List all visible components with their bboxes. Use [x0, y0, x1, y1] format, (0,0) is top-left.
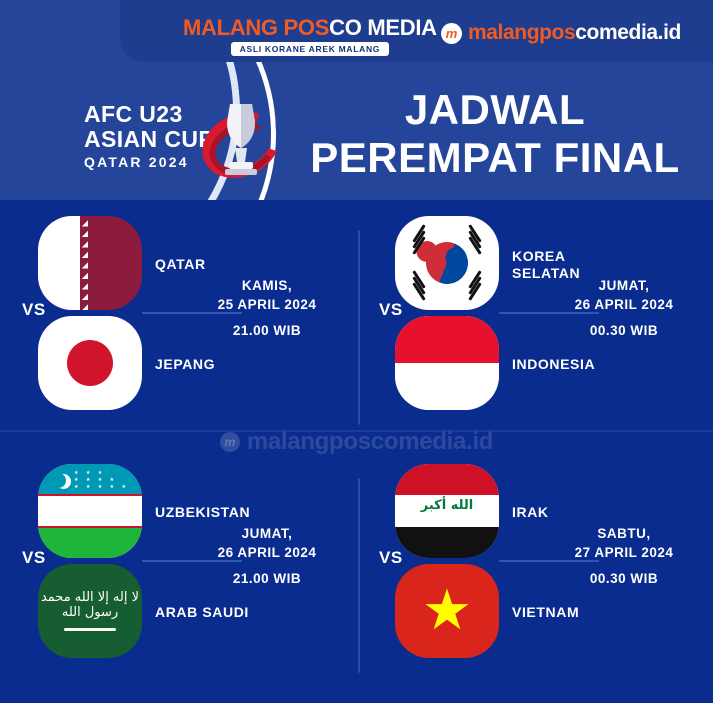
afc-logo-line3: QATAR 2024	[84, 152, 214, 172]
site-url-link[interactable]: m malangposcomedia.id	[441, 21, 681, 45]
iraq-takbir-text: الله أكبر	[395, 498, 499, 513]
iraq-black-band	[395, 527, 499, 558]
logo-wordmark: MALANG POSCO MEDIA	[183, 17, 437, 39]
team-name-bottom: ARAB SAUDI	[155, 604, 249, 621]
afc-logo-line2: ASIAN CUP	[84, 127, 214, 152]
match-time: 21.00 WIB	[192, 569, 342, 588]
saudi-shahada-text: لا إله إلا الله محمد رسول الله	[38, 590, 142, 620]
site-logo-icon: m	[441, 23, 462, 44]
flag-saudi-arabia-icon: لا إله إلا الله محمد رسول الله	[38, 564, 142, 658]
afc-logo-line1: AFC U23	[84, 102, 214, 127]
team-name-top: QATAR	[155, 256, 206, 273]
flag-qatar-icon	[38, 216, 142, 310]
uzbek-stars-icon: ★ ★ ★★ ★ ★ ★★ ★ ★ ★ ★	[74, 470, 130, 494]
horizontal-divider	[0, 430, 713, 432]
match-date: 25 APRIL 2024	[218, 297, 317, 312]
page-title-line2: PEREMPAT FINAL	[310, 134, 680, 182]
flag-indonesia-icon	[395, 316, 499, 410]
match-day: SABTU,	[597, 526, 650, 541]
japan-sun-disc	[67, 340, 113, 386]
team-name-top: UZBEKISTAN	[155, 504, 250, 521]
indonesia-white-band	[395, 363, 499, 410]
team-name-bottom: VIETNAM	[512, 604, 579, 621]
team-name-bottom: INDONESIA	[512, 356, 595, 373]
flag-iraq-icon: الله أكبر	[395, 464, 499, 558]
match-day: JUMAT,	[599, 278, 650, 293]
match-time: 21.00 WIB	[192, 321, 342, 340]
indonesia-red-band	[395, 316, 499, 363]
trophy-icon	[199, 92, 283, 184]
flag-south-korea-icon	[395, 216, 499, 310]
team-name-bottom: JEPANG	[155, 356, 215, 373]
poster-header: MALANG POSCO MEDIA ASLI KORANE AREK MALA…	[0, 0, 713, 200]
saudi-sword-icon	[64, 628, 116, 631]
uzbek-red-line-bottom	[38, 526, 142, 528]
site-url-text: malangposcomedia.id	[468, 21, 681, 45]
match-datetime: JUMAT, 26 APRIL 2024 21.00 WIB	[192, 524, 342, 588]
match-date: 26 APRIL 2024	[575, 297, 674, 312]
match-day: KAMIS,	[242, 278, 292, 293]
brand-row: MALANG POSCO MEDIA ASLI KORANE AREK MALA…	[0, 8, 713, 54]
logo-wordmark-white: CO MEDIA	[329, 15, 437, 40]
uzbek-crescent-icon	[51, 473, 66, 488]
match-card[interactable]: VS ★ ★ ★★ ★ ★ ★★ ★ ★ ★ ★ UZBEKISTAN لا إ…	[0, 448, 356, 678]
afc-tournament-logo: AFC U23 ASIAN CUP QATAR 2024	[84, 96, 274, 188]
match-datetime: KAMIS, 25 APRIL 2024 21.00 WIB	[192, 276, 342, 340]
match-datetime: JUMAT, 26 APRIL 2024 00.30 WIB	[549, 276, 699, 340]
match-schedule-poster: MALANG POSCO MEDIA ASLI KORANE AREK MALA…	[0, 0, 713, 703]
match-card[interactable]: VS QATAR JEPANG KAMIS, 25 APRIL 2024 21.…	[0, 200, 356, 430]
flag-japan-icon	[38, 316, 142, 410]
uzbek-green-band	[38, 527, 142, 558]
match-date: 26 APRIL 2024	[218, 545, 317, 560]
iraq-red-band	[395, 464, 499, 495]
match-time: 00.30 WIB	[549, 321, 699, 340]
page-title: JADWAL PEREMPAT FINAL	[310, 86, 680, 182]
afc-logo-text: AFC U23 ASIAN CUP QATAR 2024	[84, 102, 214, 172]
page-title-line1: JADWAL	[310, 86, 680, 134]
malangposco-media-logo[interactable]: MALANG POSCO MEDIA ASLI KORANE AREK MALA…	[183, 17, 437, 57]
korea-taegeuk	[418, 234, 476, 292]
team-name-top: IRAK	[512, 504, 549, 521]
qatar-serration	[73, 216, 88, 310]
match-date: 27 APRIL 2024	[575, 545, 674, 560]
logo-wordmark-orange: MALANG POS	[183, 15, 329, 40]
flag-uzbekistan-icon: ★ ★ ★★ ★ ★ ★★ ★ ★ ★ ★	[38, 464, 142, 558]
site-url-orange: malangpos	[468, 21, 575, 44]
site-url-white: comedia.id	[575, 21, 681, 44]
flag-vietnam-icon: ★	[395, 564, 499, 658]
vietnam-star-icon: ★	[422, 584, 472, 636]
uzbek-red-line-top	[38, 494, 142, 496]
match-card[interactable]: VS KOREA SELATAN I	[357, 200, 713, 430]
logo-tagline: ASLI KORANE AREK MALANG	[231, 42, 389, 56]
bottom-right-decor	[583, 573, 713, 703]
match-day: JUMAT,	[242, 526, 293, 541]
